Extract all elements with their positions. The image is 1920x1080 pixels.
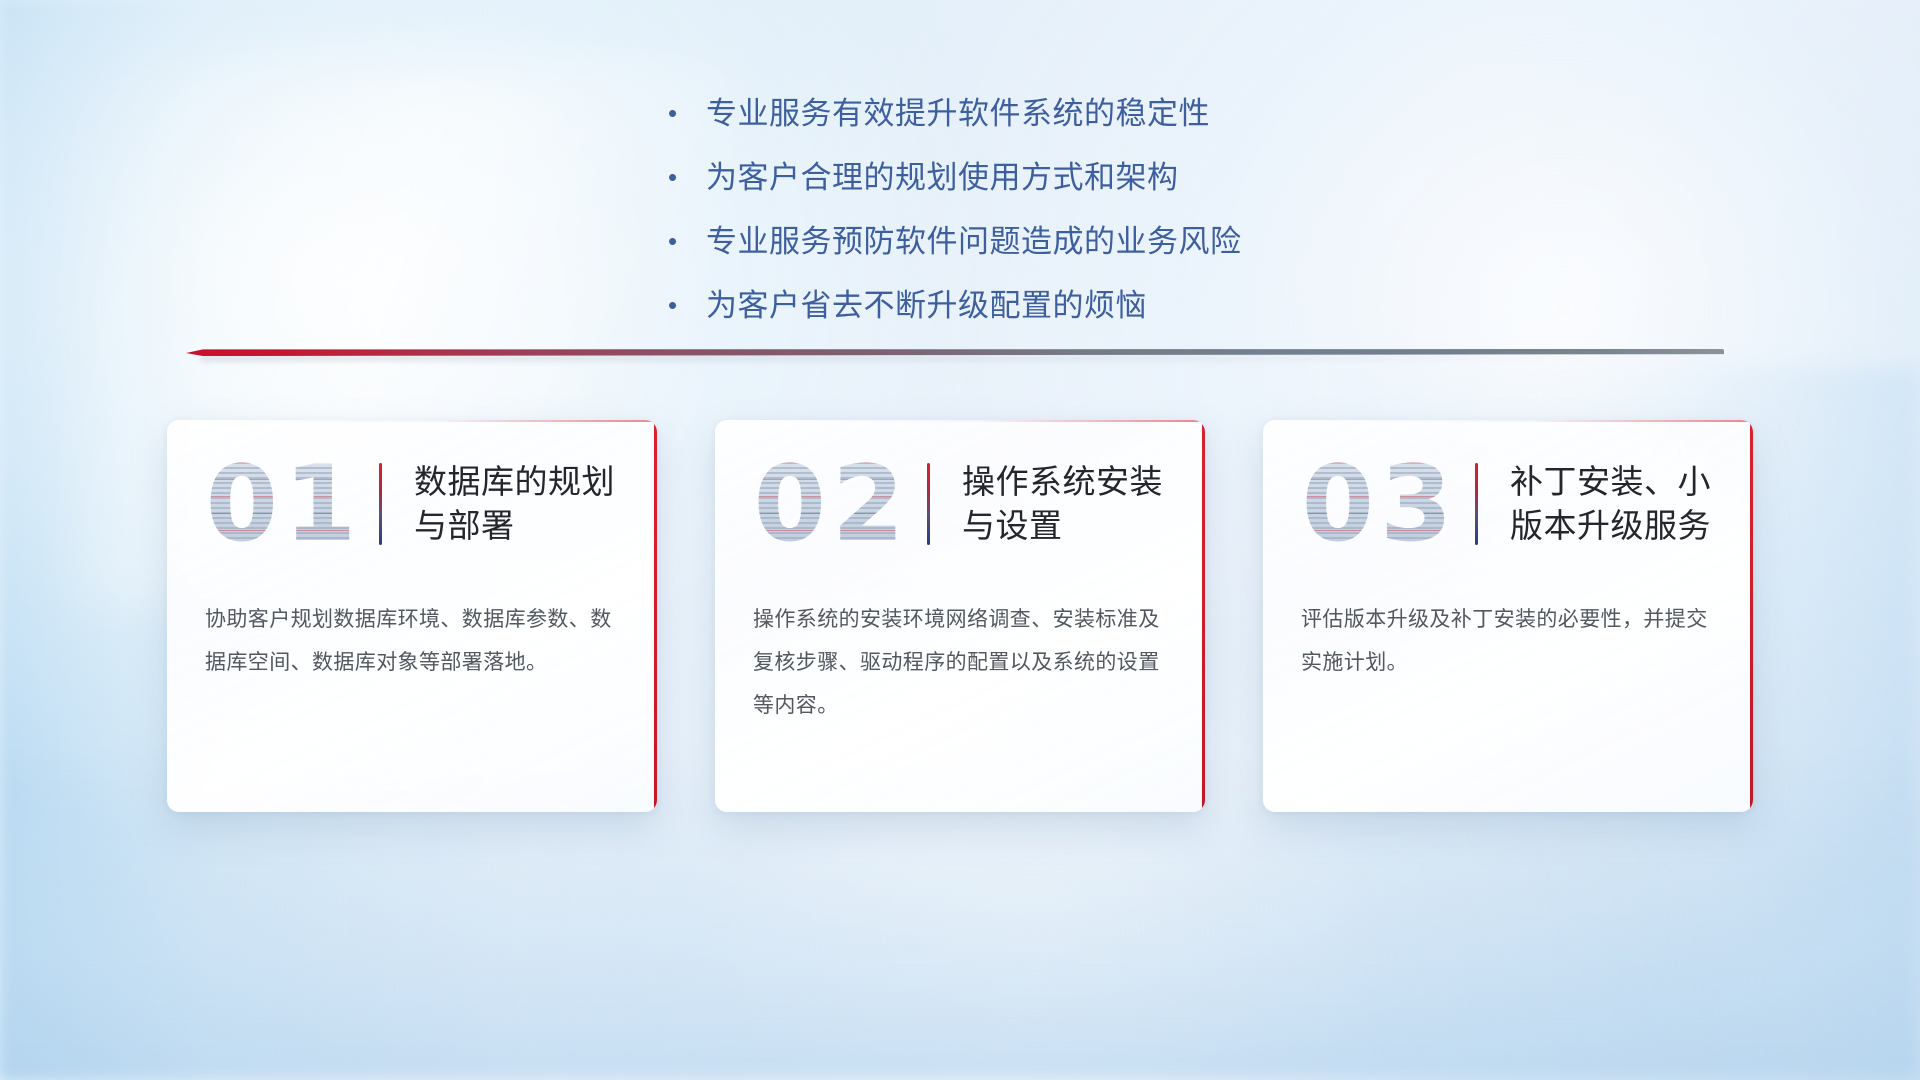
bullet-item: • 专业服务预防软件问题造成的业务风险 [668,216,1242,280]
benefits-bullet-list: • 专业服务有效提升软件系统的稳定性 • 为客户合理的规划使用方式和架构 • 专… [0,88,1920,344]
card-top-sheen [715,420,1205,422]
bullet-label: 专业服务有效提升软件系统的稳定性 [706,88,1210,133]
card-title: 操作系统安装与设置 [962,460,1205,547]
bullet-label: 为客户合理的规划使用方式和架构 [706,152,1179,197]
divider-shadow [201,356,1724,361]
card-header: 01 01 数据库的规划与部署 [167,434,657,574]
card-title-rule [927,463,930,545]
bullet-label: 专业服务预防软件问题造成的业务风险 [706,216,1242,261]
bullet-item: • 为客户省去不断升级配置的烦恼 [668,280,1147,344]
section-divider [186,346,1724,362]
card-title: 补丁安装、小版本升级服务 [1510,460,1753,547]
bullet-dot-icon: • [668,228,706,254]
card-number-glyph: 03 [1302,452,1459,556]
service-card[interactable]: 03 03 补丁安装、小版本升级服务 评估版本升级及补丁安装的必要性，并提交实施… [1263,420,1753,812]
service-card[interactable]: 01 01 数据库的规划与部署 协助客户规划数据库环境、数据库参数、数据库空间、… [167,420,657,812]
bullet-dot-icon: • [668,292,706,318]
card-number-watermark: 02 02 [737,445,927,563]
card-number-glyph: 02 [754,452,911,556]
bullet-dot-icon: • [668,100,706,126]
card-title-rule [1475,463,1478,545]
service-card-group: 01 01 数据库的规划与部署 协助客户规划数据库环境、数据库参数、数据库空间、… [0,420,1920,812]
card-title: 数据库的规划与部署 [414,460,657,547]
bullet-item: • 为客户合理的规划使用方式和架构 [668,152,1179,216]
bullet-item: • 专业服务有效提升软件系统的稳定性 [668,88,1210,152]
service-card[interactable]: 02 02 操作系统安装与设置 操作系统的安装环境网络调查、安装标准及复核步骤、… [715,420,1205,812]
card-title-rule [379,463,382,545]
card-header: 03 03 补丁安装、小版本升级服务 [1263,434,1753,574]
card-top-sheen [1263,420,1753,422]
bullet-label: 为客户省去不断升级配置的烦恼 [706,280,1147,325]
divider-bar [186,349,1724,356]
bullet-dot-icon: • [668,164,706,190]
card-number-watermark: 01 01 [189,445,379,563]
card-top-sheen [167,420,657,422]
card-number-watermark: 03 03 [1285,445,1475,563]
card-header: 02 02 操作系统安装与设置 [715,434,1205,574]
card-number-glyph: 01 [206,452,363,556]
card-description: 协助客户规划数据库环境、数据库参数、数据库空间、数据库对象等部署落地。 [205,598,623,684]
card-description: 评估版本升级及补丁安装的必要性，并提交实施计划。 [1301,598,1719,684]
card-description: 操作系统的安装环境网络调查、安装标准及复核步骤、驱动程序的配置以及系统的设置等内… [753,598,1171,727]
